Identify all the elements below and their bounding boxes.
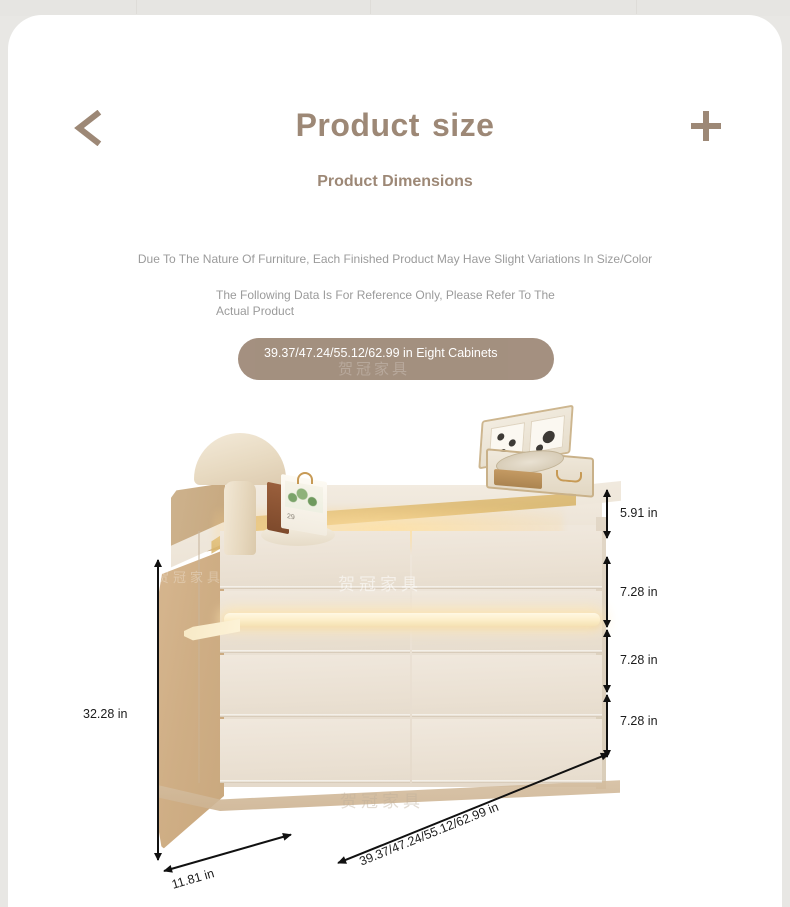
disclaimer-line-1: Due To The Nature Of Furniture, Each Fin… <box>8 252 782 266</box>
total-height-arrow <box>157 560 159 860</box>
height-arrow-row-3 <box>606 695 608 757</box>
page-header: Productsize <box>8 95 782 165</box>
calendar-date: 29 <box>287 513 295 521</box>
page-title-word-2: size <box>432 107 494 143</box>
drawer[interactable] <box>412 719 602 783</box>
page-title: Productsize <box>8 107 782 144</box>
drawer[interactable] <box>220 719 410 783</box>
content-card: Productsize Product Dimensions Due To Th… <box>8 15 782 907</box>
lamp-stem <box>224 481 256 555</box>
disclaimer-line-2: The Following Data Is For Reference Only… <box>216 287 561 319</box>
dim-label-row-1: 7.28 in <box>620 585 658 599</box>
dim-label-row-3: 7.28 in <box>620 714 658 728</box>
page-background: Productsize Product Dimensions Due To Th… <box>0 0 790 907</box>
plus-icon[interactable] <box>683 103 729 149</box>
size-badge-label: 39.37/47.24/55.12/62.99 in Eight Cabinet… <box>264 346 498 360</box>
calendar-illustration <box>285 481 323 514</box>
dim-label-row-2: 7.28 in <box>620 653 658 667</box>
desk-calendar: 29 <box>267 478 329 536</box>
page-subtitle: Product Dimensions <box>8 173 782 191</box>
drawer[interactable] <box>220 655 410 717</box>
dim-label-top-section: 5.91 in <box>620 506 658 520</box>
status-band <box>0 0 790 16</box>
led-light-strip <box>224 613 600 626</box>
height-arrow-top-section <box>606 490 608 538</box>
product-watermark: 贺冠家具 <box>156 567 224 586</box>
height-arrow-row-1 <box>606 557 608 627</box>
badge-watermark: 贺冠家具 <box>338 360 410 380</box>
size-badge: 39.37/47.24/55.12/62.99 in Eight Cabinet… <box>238 338 554 380</box>
lid-artwork <box>529 415 565 453</box>
vintage-record-player <box>472 413 600 497</box>
product-watermark: 贺冠家具 <box>338 570 422 595</box>
page-title-word-1: Product <box>296 107 420 143</box>
calendar-ring <box>297 472 313 484</box>
band-seam <box>370 0 371 14</box>
depth-arrow <box>164 834 291 872</box>
drawer[interactable] <box>412 655 602 717</box>
band-seam <box>636 0 637 14</box>
height-arrow-row-2 <box>606 630 608 692</box>
band-seam <box>136 0 137 14</box>
product-watermark: 贺冠家具 <box>340 787 424 812</box>
drawer-grid <box>220 531 602 783</box>
dim-label-depth: 11.81 in <box>170 866 216 891</box>
dim-label-total-height: 32.28 in <box>83 707 127 721</box>
drawer[interactable] <box>412 531 602 589</box>
